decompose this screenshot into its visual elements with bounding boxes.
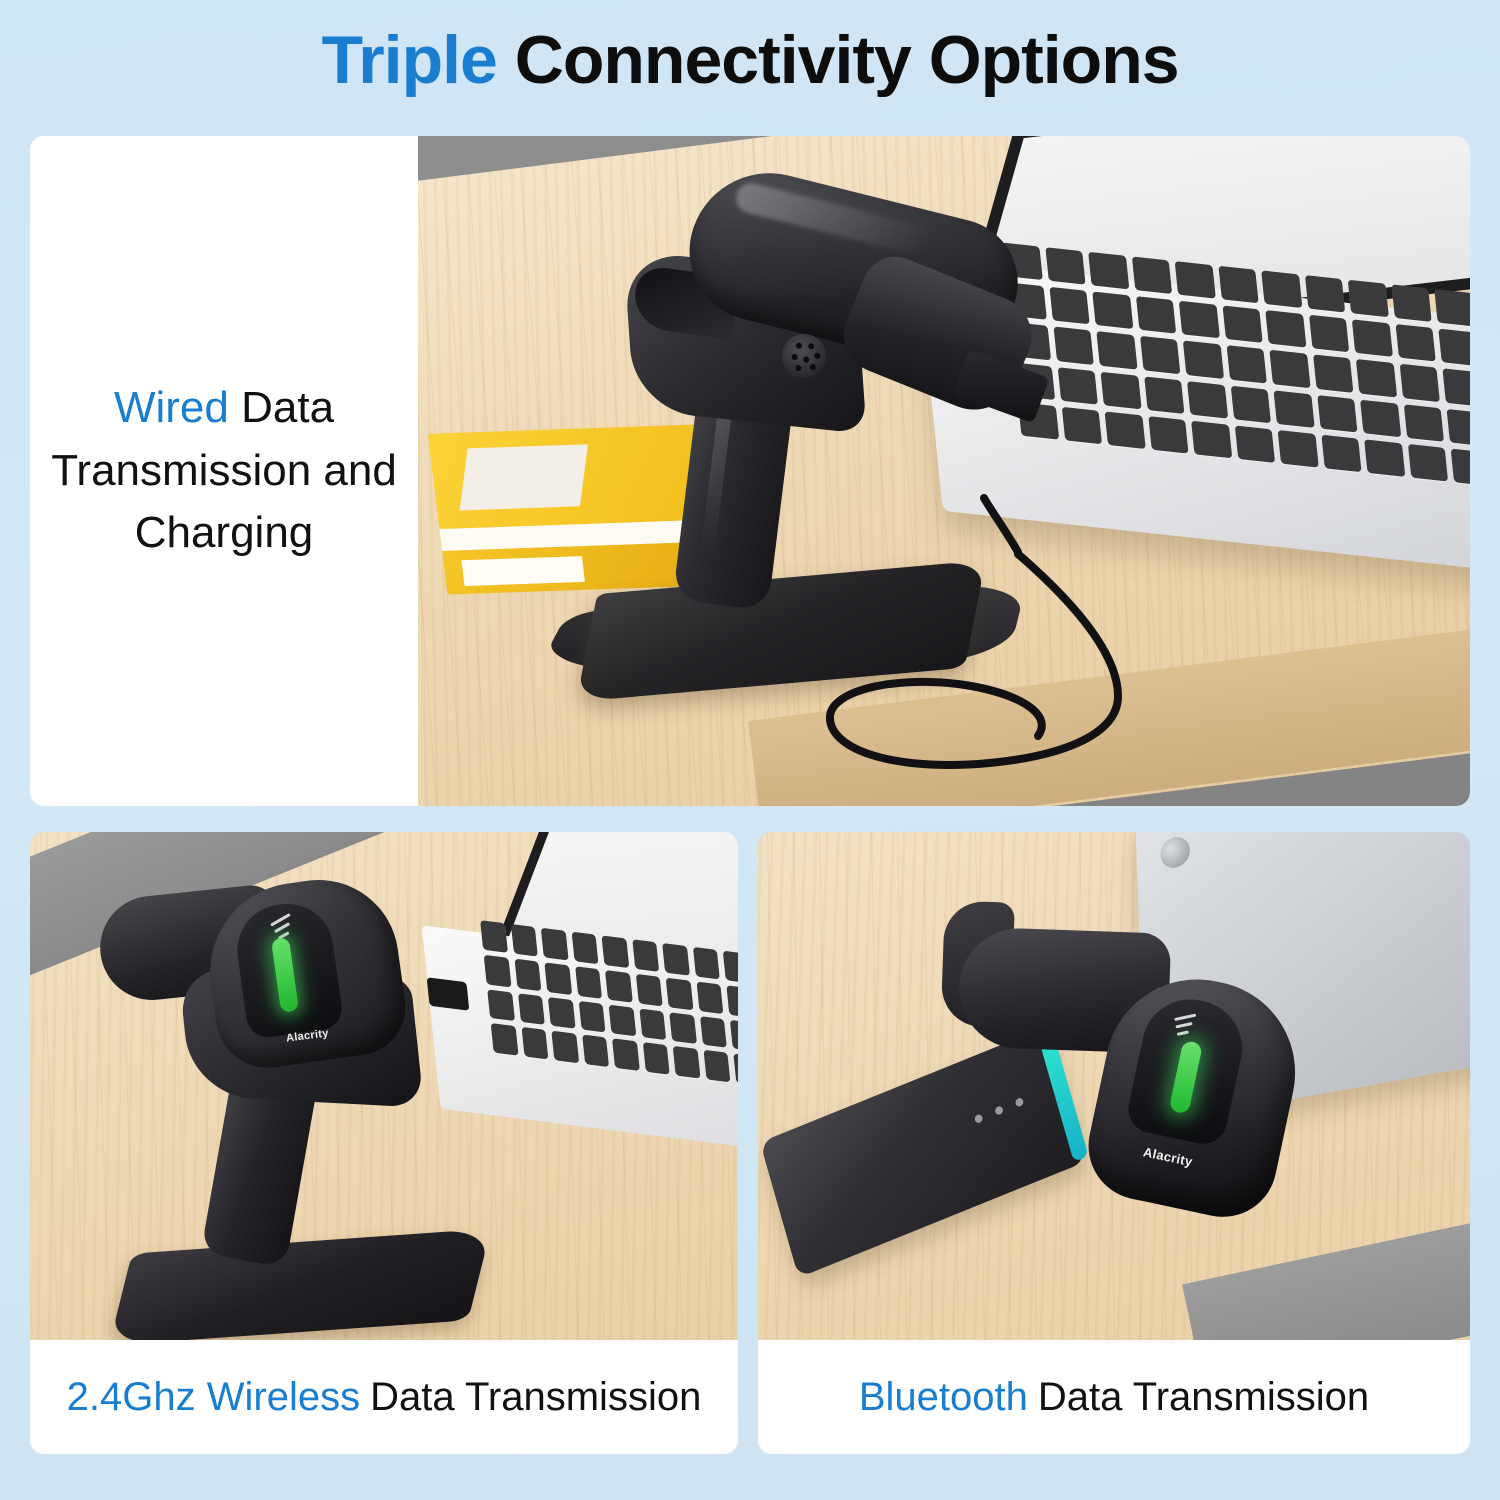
keyboard-key [1057, 367, 1098, 405]
keyboard-key [1096, 331, 1137, 369]
keyboard-key [1261, 270, 1302, 308]
wired-text-highlight: Wired [114, 383, 229, 432]
keyboard-key [1222, 306, 1263, 344]
bluetooth-caption-highlight: Bluetooth [859, 1375, 1028, 1420]
keyboard-key [1435, 289, 1470, 327]
keyboard-key [662, 943, 689, 975]
keyboard-key [669, 1012, 696, 1044]
keyboard-key [1270, 350, 1311, 388]
keyboard-key [1226, 345, 1267, 383]
keyboard-key [571, 932, 598, 964]
keyboard-key [703, 1050, 730, 1082]
keyboard-key [1100, 371, 1141, 409]
keyboard-key [1234, 425, 1275, 463]
wireless-caption-highlight: 2.4Ghz Wireless [67, 1375, 360, 1420]
keyboard-key [1187, 381, 1228, 419]
keyboard-key [514, 958, 541, 990]
keyboard-key [1399, 364, 1440, 402]
keyboard-key [1321, 434, 1362, 472]
wireless-caption: 2.4Ghz Wireless Data Transmission [30, 1340, 738, 1454]
keyboard-key [636, 974, 663, 1006]
keyboard-key [541, 928, 568, 960]
keyboard-key [1352, 320, 1393, 358]
marketing-image-stage: Triple Connectivity Options Wired Data T… [0, 0, 1500, 1500]
wired-text-block: Wired Data Transmission and Charging [30, 136, 418, 806]
keyboard-key [1092, 292, 1133, 330]
keyboard-key [521, 1027, 548, 1059]
scanner-in-stand: Alacrity [90, 852, 510, 1322]
keyboard-key [1179, 301, 1220, 339]
tablet-camera [1160, 835, 1191, 870]
keyboard-key [551, 1031, 578, 1063]
keyboard-key [666, 977, 693, 1009]
keyboard-key [1183, 341, 1224, 379]
keyboard-key [1191, 421, 1232, 459]
port-dot [795, 365, 802, 372]
keyboard-key [1105, 411, 1146, 449]
keyboard-key [1408, 444, 1449, 482]
keyboard-key [578, 1000, 605, 1032]
keyboard-key [673, 1046, 700, 1078]
wireless-caption-rest: Data Transmission [360, 1375, 701, 1420]
port-dot [795, 342, 802, 349]
keyboard-key [632, 939, 659, 971]
keyboard-key [602, 935, 629, 967]
keyboard-key [643, 1042, 670, 1074]
keyboard-key [1451, 448, 1470, 486]
keyboard-key [727, 985, 738, 1017]
keyboard-key [1278, 430, 1319, 468]
keyboard-key [1391, 284, 1432, 322]
stand-base [576, 560, 985, 702]
bluetooth-photo: Alacrity [758, 832, 1470, 1340]
keyboard-key [730, 1019, 738, 1051]
scanner-in-stand [538, 166, 1058, 756]
panel-wireless-24ghz: Alacrity 2.4Ghz Wireless Data Transmissi… [30, 832, 738, 1454]
keyboard-key [1313, 355, 1354, 393]
keyboard-key [1230, 385, 1271, 423]
keyboard-key [1053, 327, 1094, 365]
keyboard-key [575, 966, 602, 998]
keyboard-key [1356, 359, 1397, 397]
keyboard-key [734, 1054, 738, 1086]
keyboard-key [1364, 439, 1405, 477]
keyboard-key [1088, 252, 1129, 290]
keyboard-key [639, 1008, 666, 1040]
usb-plug-scanner-side [952, 349, 1049, 424]
port-dot [791, 354, 798, 361]
keyboard-key [510, 924, 537, 956]
keyboard-key [1148, 416, 1189, 454]
keyboard-key [1131, 256, 1172, 294]
wireless-photo: Alacrity [30, 832, 738, 1340]
keyboard-key [1447, 409, 1470, 447]
keyboard-key [582, 1035, 609, 1067]
port-dot [809, 364, 816, 371]
keyboard-key [544, 962, 571, 994]
panel-bluetooth: Alacrity Bluetooth Data Transmission [758, 832, 1470, 1454]
keyboard-key [605, 970, 632, 1002]
keyboard-key [1305, 275, 1346, 313]
keyboard-key [1136, 296, 1177, 334]
keyboard-key [1218, 266, 1259, 304]
keyboard-key [609, 1004, 636, 1036]
keyboard-key [1175, 261, 1216, 299]
keyboard-key [1395, 324, 1436, 362]
keyboard-key [1348, 280, 1389, 318]
keyboard-key [1443, 369, 1470, 407]
keyboard-key [723, 951, 738, 983]
bluetooth-caption: Bluetooth Data Transmission [758, 1340, 1470, 1454]
keyboard-key [693, 947, 720, 979]
page-title-highlight: Triple [321, 22, 496, 98]
keyboard-key [1061, 407, 1102, 445]
keyboard-key [1439, 329, 1470, 367]
keyboard-key [1274, 390, 1315, 428]
keyboard-key [1404, 404, 1445, 442]
keyboard-key [1265, 310, 1306, 348]
keyboard-key [1144, 376, 1185, 414]
keyboard-key [548, 997, 575, 1029]
keyboard-key [696, 981, 723, 1013]
keyboard-key [518, 993, 545, 1025]
port-dot [814, 352, 821, 359]
page-title-rest: Connectivity Options [515, 22, 1179, 98]
port-dot [803, 356, 810, 363]
bluetooth-caption-rest: Data Transmission [1028, 1375, 1369, 1420]
keyboard-key [612, 1039, 639, 1071]
page-title: Triple Connectivity Options [0, 26, 1500, 94]
port-dot [808, 343, 815, 350]
keyboard-key [700, 1016, 727, 1048]
wired-photo [418, 136, 1470, 806]
keyboard-key [1360, 399, 1401, 437]
keyboard-key [1140, 336, 1181, 374]
panel-wired: Wired Data Transmission and Charging [30, 136, 1470, 806]
keyboard-key [1317, 395, 1358, 433]
keyboard-key [1309, 315, 1350, 353]
